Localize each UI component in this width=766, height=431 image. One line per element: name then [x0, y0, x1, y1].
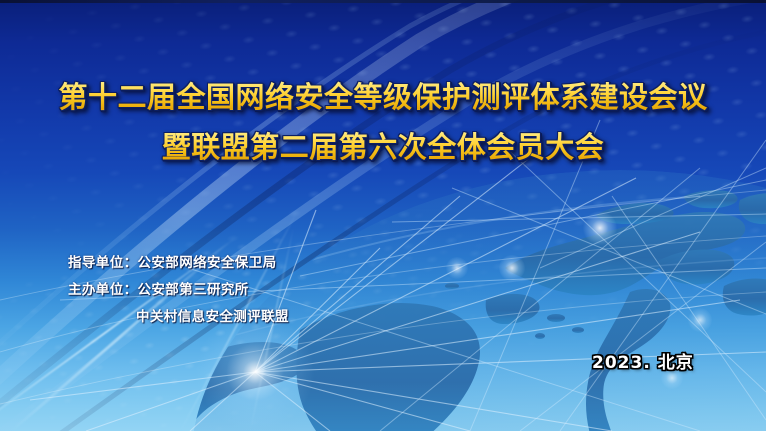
- organizer-block: 指导单位：公安部网络安全保卫局 主办单位：公安部第三研究所 中关村信息安全测评联…: [68, 250, 289, 331]
- venue-and-year: 2023. 北京: [592, 348, 694, 373]
- title-line-2: 暨联盟第二届第六次全体会员大会: [0, 126, 766, 168]
- organizer-line-host: 主办单位：公安部第三研究所: [68, 277, 289, 304]
- organizer-line-host-secondary: 中关村信息安全测评联盟: [68, 304, 289, 331]
- title-line-1: 第十二届全国网络安全等级保护测评体系建设会议: [0, 76, 766, 118]
- top-border: [0, 0, 766, 3]
- conference-title-slide: 第十二届全国网络安全等级保护测评体系建设会议 暨联盟第二届第六次全体会员大会 指…: [0, 0, 766, 431]
- organizer-line-guidance: 指导单位：公安部网络安全保卫局: [68, 250, 289, 277]
- slide-title: 第十二届全国网络安全等级保护测评体系建设会议 暨联盟第二届第六次全体会员大会: [0, 76, 766, 168]
